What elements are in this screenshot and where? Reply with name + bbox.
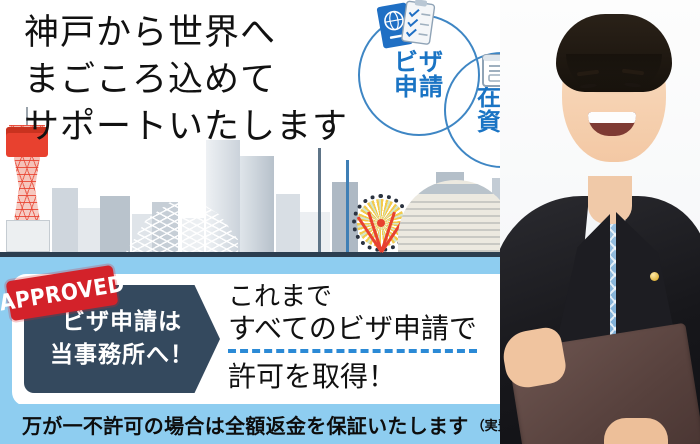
arrow-banner-line-1: ビザ申請は: [62, 310, 182, 335]
headline-line-3: サポートいたします: [24, 104, 414, 151]
tower-base: [6, 220, 50, 252]
lapel-badge-icon: [650, 272, 659, 281]
building: [276, 194, 300, 252]
hotel-floor-bands: [398, 196, 514, 252]
kobe-maritime-museum-icon: [126, 196, 238, 252]
guarantee-text: 万が一不許可の場合は全額返金を保証いたします: [22, 410, 469, 439]
building: [52, 188, 78, 252]
building: [78, 208, 100, 252]
result-text-block: これまで すべてのビザ申請で 許可を取得！: [228, 283, 477, 396]
consultant-photo: [500, 0, 700, 444]
antenna-mast: [318, 148, 321, 252]
passport-icon: [372, 0, 440, 52]
teeth: [588, 112, 636, 123]
hand-right: [604, 418, 668, 444]
visa-service-banner: 神戸から世界へ まごころ込めて サポートいたします ビザ申請 在留資格: [0, 0, 700, 444]
result-line-2: すべてのビザ申請で: [228, 312, 477, 353]
result-line-3: 許可を取得！: [228, 358, 477, 396]
headline-line-1: 神戸から世界へ: [24, 10, 414, 57]
result-line-1: これまで: [228, 283, 477, 312]
hotel-roof-cap: [416, 184, 496, 194]
building-tall: [240, 156, 274, 252]
headline-line-2: まごころ込めて: [24, 57, 414, 104]
headline: 神戸から世界へ まごころ込めて サポートいたします: [24, 10, 414, 151]
building: [300, 212, 330, 252]
hair: [556, 14, 672, 92]
antenna-mast: [346, 160, 349, 252]
museum-lattice: [126, 196, 238, 252]
neck: [588, 176, 632, 224]
arrow-banner-line-2: 当事務所へ！: [50, 343, 194, 368]
